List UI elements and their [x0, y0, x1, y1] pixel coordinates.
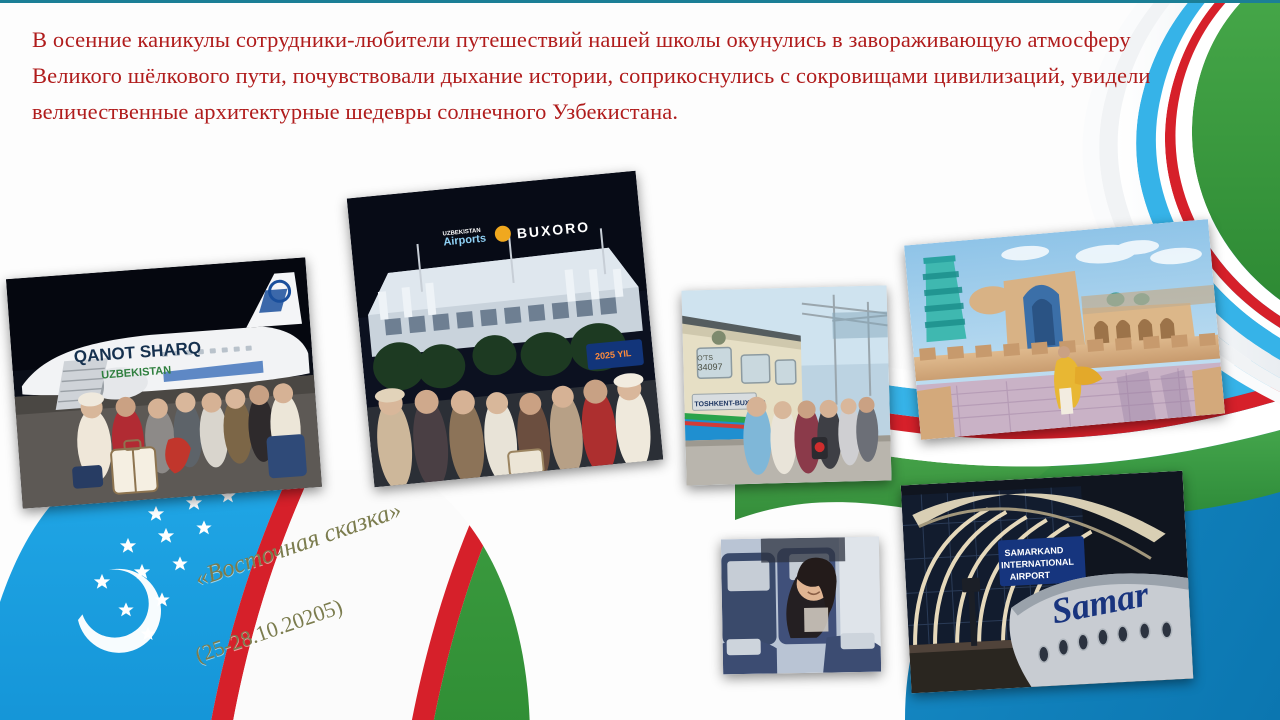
- samarkand-airport-photo: SAMARKAND INTERNATIONAL AIRPORT Samar: [901, 471, 1193, 693]
- samarkand-sign-line3: AIRPORT: [1009, 570, 1050, 582]
- train-platform-photo: O'TS 34097 TOSHKENT-BUXORO: [681, 285, 891, 485]
- khiva-old-town-photo: [904, 219, 1225, 440]
- train-number-text: 34097: [697, 362, 722, 373]
- buxoro-airport-photo: UZBEKISTAN Airports BUXORO 2025 YIL: [347, 171, 663, 487]
- top-rule: [0, 0, 1280, 3]
- airplane-seat-photo: [721, 537, 881, 675]
- uzbekistan-flag-badge: [0, 470, 530, 720]
- slide-headline: В осенние каникулы сотрудники-любители п…: [32, 22, 1218, 130]
- plane-boarding-photo: QANOT SHARQ UZBEKISTAN: [6, 257, 322, 508]
- presentation-slide: «Восточная сказка» (25-28.10.20205) В ос…: [0, 0, 1280, 720]
